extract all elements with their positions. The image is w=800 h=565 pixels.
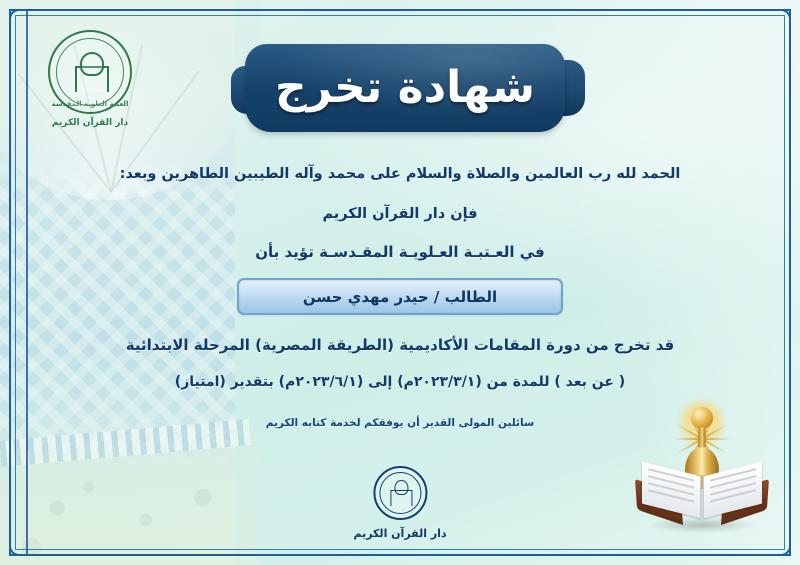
footer-organization-label: دار القرآن الكريم bbox=[353, 527, 446, 540]
frame-corner-top-right bbox=[755, 9, 791, 45]
artwork-reflection bbox=[647, 517, 757, 533]
quran-illustration bbox=[632, 389, 772, 539]
dome-glyph-icon-footer bbox=[389, 480, 411, 506]
shrine-dome-emblem-icon-footer bbox=[373, 466, 427, 520]
header-emblem: العتبة العلوية المقدسة دار القرآن الكريم bbox=[38, 30, 142, 148]
frame-left-accent-line bbox=[26, 9, 28, 556]
frame-corner-bottom-left bbox=[9, 520, 45, 556]
praise-line: الحمد لله رب العالمين والصلاة والسلام عل… bbox=[60, 165, 740, 185]
student-name-text: الطالب / حيدر مهدي حسن bbox=[303, 288, 497, 306]
finial-orb bbox=[691, 407, 713, 429]
course-line: قد تخرج من دورة المقامات الأكاديمية (الط… bbox=[60, 335, 740, 355]
shrine-dome-emblem-icon bbox=[48, 30, 132, 114]
institution-line: فإن دار القرآن الكريم bbox=[60, 205, 740, 225]
rehal-stand-icon bbox=[636, 455, 768, 517]
student-name-box: الطالب / حيدر مهدي حسن bbox=[237, 278, 563, 315]
page-title: شهادة تخرج bbox=[275, 66, 535, 110]
authority-line: في العـتبـة العـلويـة المقـدسـة تؤيد بأن bbox=[60, 242, 740, 262]
footer-emblem: دار القرآن الكريم bbox=[353, 466, 446, 540]
emblem-sub-text: دار القرآن الكريم bbox=[52, 118, 128, 128]
dome-glyph-icon bbox=[73, 52, 107, 92]
title-banner: شهادة تخرج bbox=[245, 44, 565, 132]
certificate-page: العتبة العلوية المقدسة دار القرآن الكريم… bbox=[0, 0, 800, 565]
